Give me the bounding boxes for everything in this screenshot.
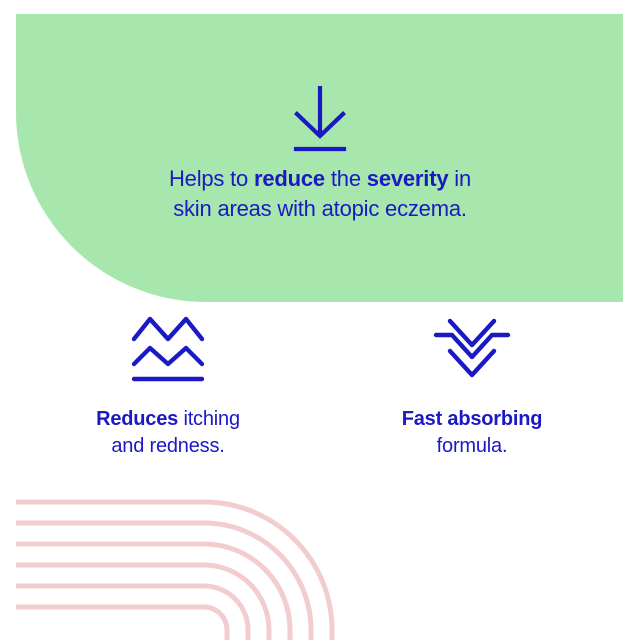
hero-caption: Helps to reduce the severity in skin are… (70, 164, 570, 224)
feature-row: Reduces itching and redness. Fast absorb… (16, 312, 624, 460)
hero-caption-bold-reduce: reduce (254, 166, 325, 191)
feature-label-line-2: formula. (402, 433, 543, 460)
hero-caption-line1-mid: the (325, 166, 367, 191)
feature-fast-absorbing: Fast absorbing formula. (320, 312, 624, 460)
feature-label-fast-absorbing: Fast absorbing formula. (402, 406, 543, 460)
hero-caption-line1-pre: Helps to (169, 166, 254, 191)
hero-caption-bold-severity: severity (367, 166, 449, 191)
feature-label-line-1: Reduces itching (96, 406, 240, 433)
feature-reduces-itching: Reduces itching and redness. (16, 312, 320, 460)
green-hero-panel (16, 14, 623, 302)
arrow-down-to-line-icon (288, 86, 352, 156)
hero-caption-line-1: Helps to reduce the severity in (70, 164, 570, 194)
double-chevron-down-absorb-icon (429, 312, 515, 384)
hero-caption-line-2: skin areas with atopic eczema. (70, 194, 570, 224)
feature-bold-reduces: Reduces (96, 408, 178, 430)
concentric-rounded-lines-decoration (0, 470, 400, 640)
hero-caption-line1-post: in (448, 166, 471, 191)
poster-canvas: Helps to reduce the severity in skin are… (0, 0, 640, 640)
feature-label-line-1: Fast absorbing (402, 406, 543, 433)
waves-icon (125, 312, 211, 384)
feature-label-reduces-itching: Reduces itching and redness. (96, 406, 240, 460)
feature-bold-fast-absorbing: Fast absorbing (402, 408, 543, 430)
feature-rest-itching: itching (178, 408, 240, 430)
feature-label-line-2: and redness. (96, 433, 240, 460)
